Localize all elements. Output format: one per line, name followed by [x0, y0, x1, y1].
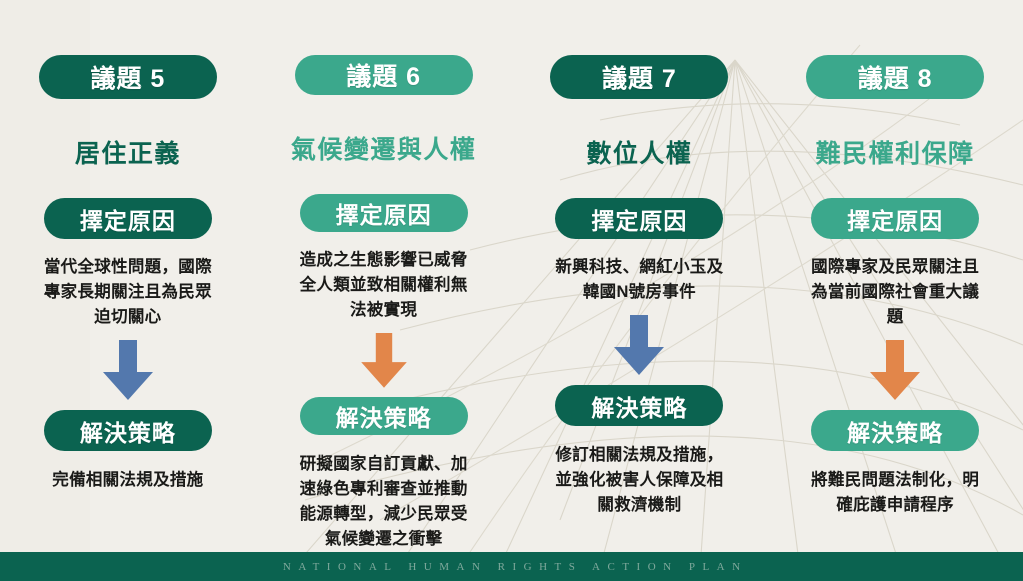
topic-badge-7[interactable]: 議題 7	[550, 55, 728, 99]
solution-badge-6[interactable]: 解決策略	[300, 397, 468, 434]
topic-title-5: 居住正義	[75, 134, 181, 170]
down-arrow-orange-icon	[868, 340, 922, 402]
topics-grid: 議題 5 居住正義 擇定原因 當代全球性問題，國際 專家長期關注且為民眾 迫切關…	[0, 0, 1023, 552]
down-arrow-blue-icon	[101, 340, 155, 402]
topic-badge-5[interactable]: 議題 5	[39, 55, 217, 99]
topic-title-6: 氣候變遷與人權	[291, 130, 477, 166]
solution-badge-8[interactable]: 解決策略	[811, 410, 979, 451]
solution-badge-7[interactable]: 解決策略	[555, 385, 723, 426]
reason-text-6: 造成之生態影響已威脅 全人類並致相關權利無 法被實現	[300, 248, 468, 323]
reason-badge-8[interactable]: 擇定原因	[811, 198, 979, 239]
solution-badge-5[interactable]: 解決策略	[44, 410, 212, 451]
slide-canvas: 議題 5 居住正義 擇定原因 當代全球性問題，國際 專家長期關注且為民眾 迫切關…	[0, 0, 1023, 581]
footer-bar: NATIONAL HUMAN RIGHTS ACTION PLAN	[0, 552, 1023, 581]
topic-column-5: 議題 5 居住正義 擇定原因 當代全球性問題，國際 專家長期關注且為民眾 迫切關…	[0, 0, 256, 552]
reason-badge-5[interactable]: 擇定原因	[44, 198, 212, 239]
reason-text-8: 國際專家及民眾關注且 為當前國際社會重大議 題	[811, 255, 979, 330]
topic-title-7: 數位人權	[586, 134, 692, 170]
footer-title: NATIONAL HUMAN RIGHTS ACTION PLAN	[275, 561, 747, 573]
solution-text-8: 將難民問題法制化，明 確庇護申請程序	[811, 468, 979, 518]
reason-badge-7[interactable]: 擇定原因	[555, 198, 723, 239]
topic-badge-8[interactable]: 議題 8	[806, 55, 984, 99]
reason-text-5: 當代全球性問題，國際 專家長期關注且為民眾 迫切關心	[44, 255, 212, 330]
topic-column-6: 議題 6 氣候變遷與人權 擇定原因 造成之生態影響已威脅 全人類並致相關權利無 …	[256, 0, 512, 552]
solution-text-5: 完備相關法規及措施	[52, 468, 203, 493]
reason-text-7: 新興科技、網紅小玉及 韓國N號房事件	[555, 255, 723, 305]
solution-text-7: 修訂相關法規及措施， 並強化被害人保障及相 關救濟機制	[555, 443, 723, 518]
solution-text-6: 研擬國家自訂貢獻、加 速綠色專利審查並推動 能源轉型，減少民眾受 氣候變遷之衝擊	[300, 452, 468, 552]
down-arrow-orange-icon	[357, 333, 411, 390]
reason-badge-6[interactable]: 擇定原因	[300, 194, 468, 231]
topic-column-7: 議題 7 數位人權 擇定原因 新興科技、網紅小玉及 韓國N號房事件 解決策略 修…	[512, 0, 768, 552]
down-arrow-blue-icon	[612, 315, 666, 377]
topic-title-8: 難民權利保障	[816, 134, 975, 170]
topic-badge-6[interactable]: 議題 6	[295, 55, 473, 95]
topic-column-8: 議題 8 難民權利保障 擇定原因 國際專家及民眾關注且 為當前國際社會重大議 題…	[767, 0, 1023, 552]
